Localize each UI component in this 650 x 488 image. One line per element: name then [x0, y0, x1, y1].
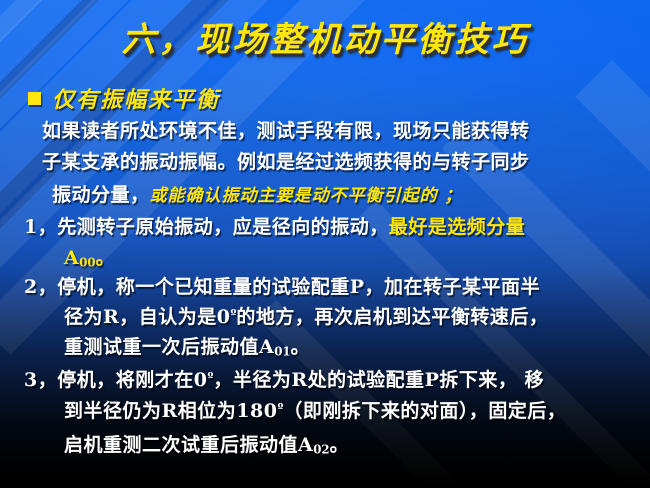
step-1-number: 1，	[24, 216, 57, 238]
step-2-symbol-subscript: 01	[274, 345, 290, 359]
filled-square-bullet-icon	[28, 92, 41, 105]
step-2-line-3: 重测试重一次后振动值A01。	[64, 332, 310, 359]
step-1-symbol-tail: 。	[96, 247, 116, 269]
step-3-line-2: 到半径仍为R相位为180º（即刚拆下来的对面），固定后，	[64, 396, 566, 423]
step-3-line-3: 启机重测二次试重后振动值A02。	[64, 430, 349, 457]
slide-content: 六，现场整机动平衡技巧 仅有振幅来平衡 如果读者所处环境不佳，测试手段有限，现场…	[0, 0, 650, 488]
step-3-symbol-subscript: 02	[313, 443, 329, 457]
step-3-line-2-pre: 到半径仍为R相位为180	[64, 400, 277, 422]
step-1-symbol-subscript: 00	[79, 256, 95, 270]
paragraph-line-1: 如果读者所处环境不佳，测试手段有限，现场只能获得转	[42, 116, 530, 143]
step-3-number: 3，	[24, 369, 57, 391]
step-2-line-2-post: 的地方，再次启机到达平衡转速后，	[236, 306, 548, 328]
step-3-line-1-post: ，半径为R处的试验配重P拆下来， 移	[213, 369, 544, 391]
step-3-line-3-post: 。	[330, 434, 350, 456]
step-1-line-2: A00。	[64, 243, 115, 270]
slide-title: 六，现场整机动平衡技巧	[0, 12, 650, 61]
presentation-slide: 六，现场整机动平衡技巧 仅有振幅来平衡 如果读者所处环境不佳，测试手段有限，现场…	[0, 0, 650, 488]
step-1-symbol-base: A	[64, 247, 79, 269]
step-2-line-3-post: 。	[291, 336, 311, 358]
paragraph-line-2: 子某支承的振动振幅。例如是经过选频获得的与转子同步	[42, 147, 530, 174]
step-3-line-1: 3，停机，将刚才在0º，半径为R处的试验配重P拆下来， 移	[24, 365, 544, 392]
step-1-line-1-highlight: 最好是选频分量	[389, 216, 526, 238]
step-2-line-1: 2，停机，称一个已知重量的试验配重P，加在转子某平面半	[24, 272, 540, 299]
step-2-number: 2，	[24, 276, 57, 298]
paragraph-line-3-highlight: 或能确认振动主要是动不平衡引起的 ；	[150, 186, 463, 206]
step-1-line-1-plain: 先测转子原始振动，应是径向的振动，	[57, 216, 389, 238]
step-3-line-1-pre: 停机，将刚才在0	[57, 369, 207, 391]
paragraph-line-3-plain: 振动分量，	[52, 184, 150, 206]
step-3-line-3-pre: 启机重测二次试重后振动值A	[64, 434, 313, 456]
step-2-line-1-text: 停机，称一个已知重量的试验配重P，加在转子某平面半	[57, 276, 540, 298]
paragraph-line-3: 振动分量，或能确认振动主要是动不平衡引起的 ；	[52, 180, 462, 207]
step-1-line-1: 1，先测转子原始振动，应是径向的振动，最好是选频分量	[24, 212, 525, 239]
bullet-heading-row: 仅有振幅来平衡	[28, 82, 220, 114]
step-3-line-2-post: （即刚拆下来的对面），固定后，	[283, 400, 566, 422]
step-2-line-2-pre: 径为R，自认为是0	[64, 306, 231, 328]
bullet-heading-label: 仅有振幅来平衡	[52, 82, 220, 114]
step-2-line-2: 径为R，自认为是0º的地方，再次启机到达平衡转速后，	[64, 302, 548, 329]
step-2-line-3-pre: 重测试重一次后振动值A	[64, 336, 274, 358]
